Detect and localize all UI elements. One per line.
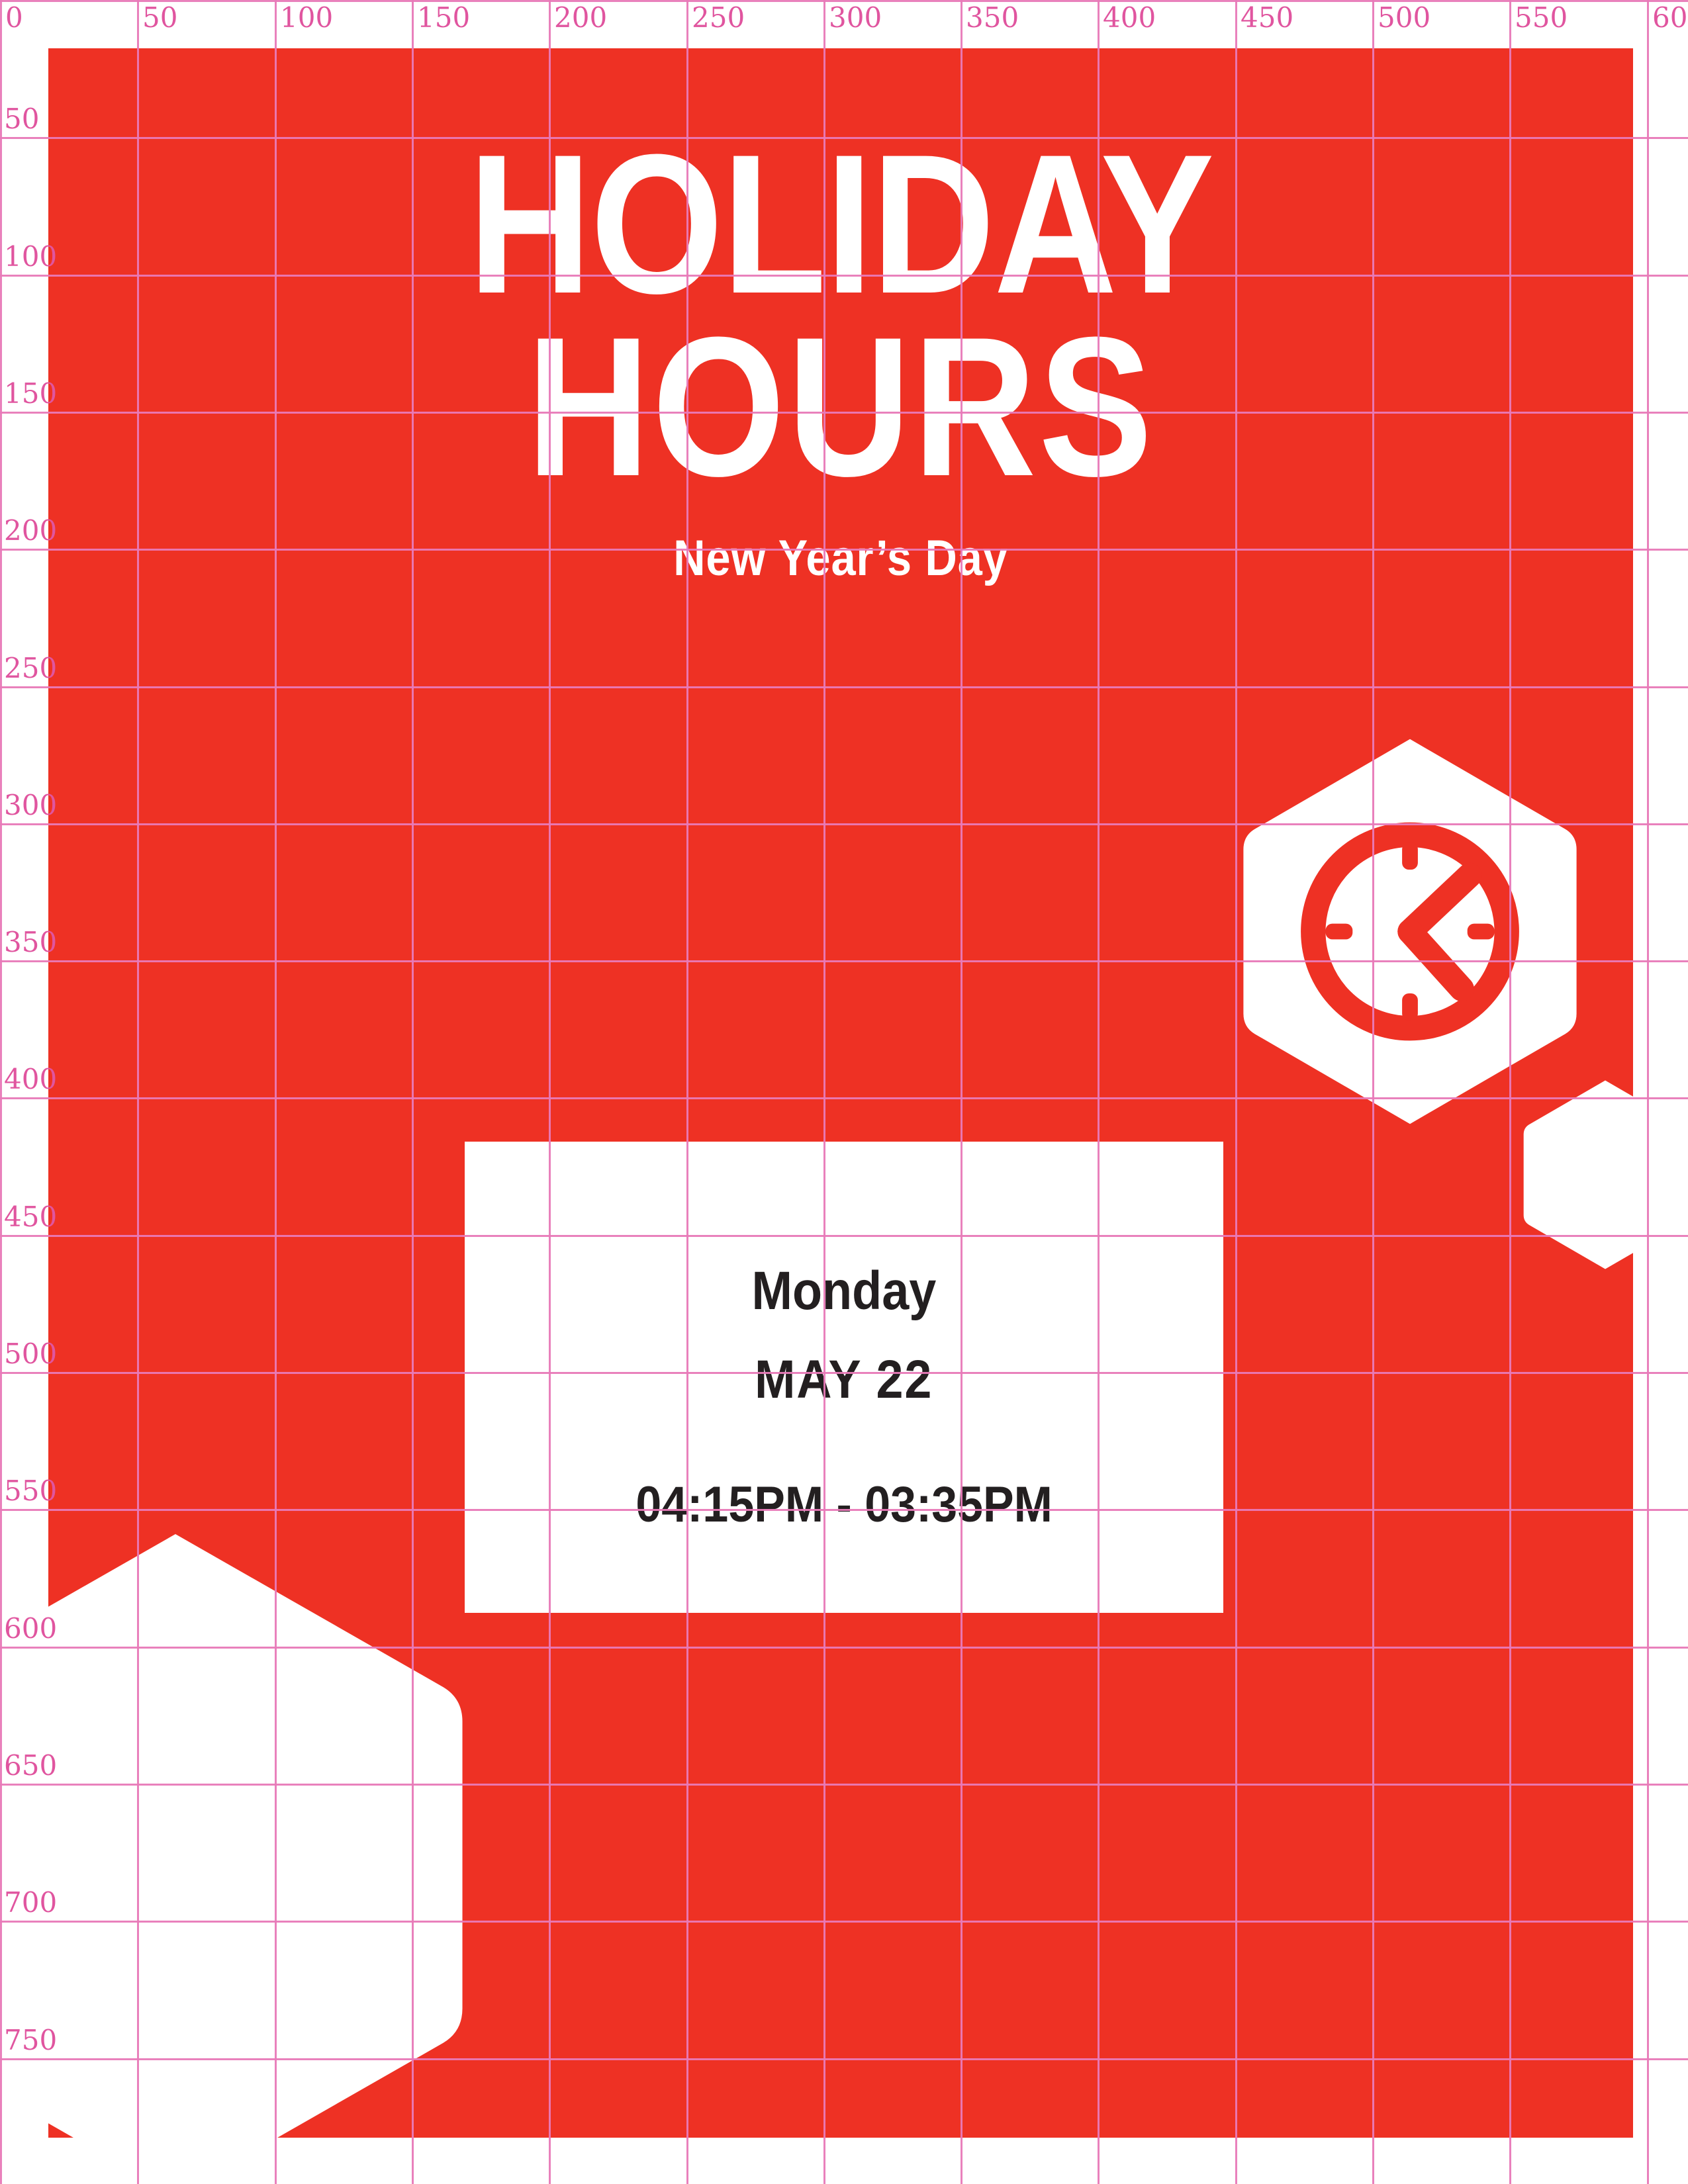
card-date-label: MAY 22 — [755, 1353, 933, 1407]
hexagon-shape-bottom-left — [0, 1534, 473, 2184]
poster-artboard: HOLIDAY HOURS New Year’s Day Monday MAY … — [0, 0, 1688, 2184]
headline-block: HOLIDAY HOURS New Year’s Day — [48, 132, 1633, 587]
poster-canvas: HOLIDAY HOURS New Year’s Day Monday MAY … — [0, 0, 1688, 2184]
headline-line-1: HOLIDAY — [160, 132, 1523, 315]
holiday-info-card: Monday MAY 22 04:15PM - 03:35PM — [465, 1142, 1223, 1613]
card-day-label: Monday — [752, 1264, 937, 1318]
headline-line-2: HOURS — [160, 315, 1523, 498]
poster-subtitle: New Year’s Day — [144, 529, 1538, 587]
clock-icon — [1313, 835, 1507, 1028]
hexagon-shape-clock — [1241, 735, 1579, 1128]
card-time-range: 04:15PM - 03:35PM — [635, 1480, 1053, 1530]
hexagon-shape-small — [1523, 1079, 1688, 1271]
